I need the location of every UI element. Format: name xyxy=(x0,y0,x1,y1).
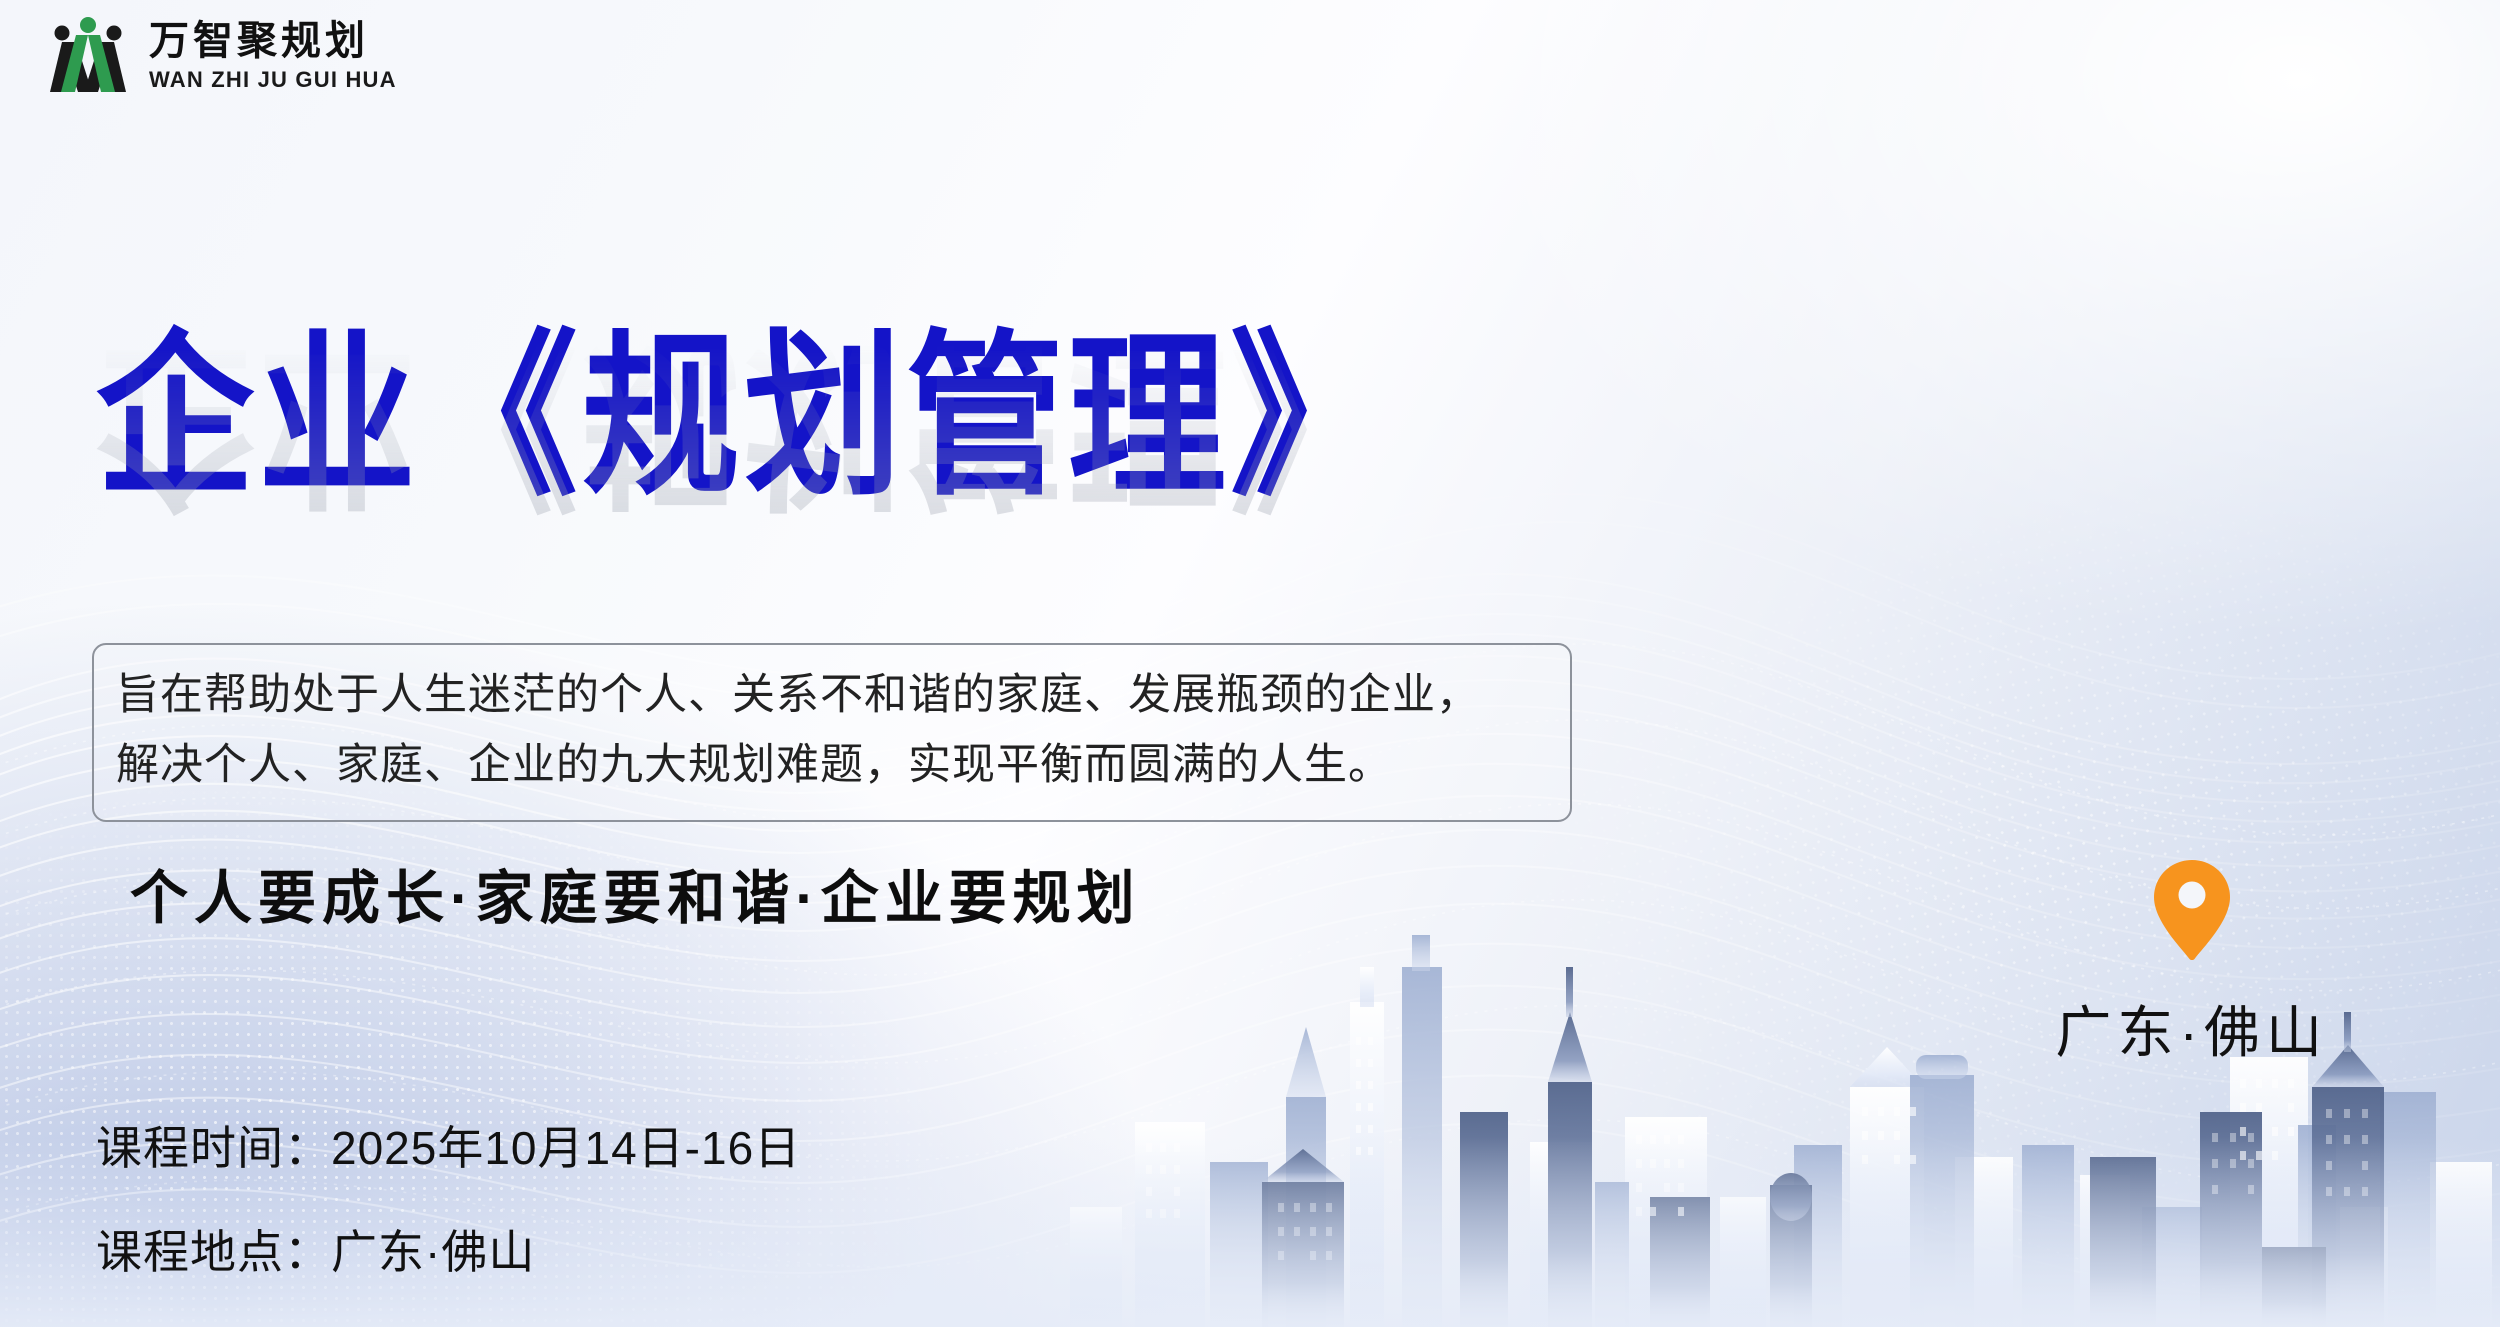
map-pin-icon xyxy=(2152,858,2232,962)
brand-name-en: WAN ZHI JU GUI HUA xyxy=(149,69,397,91)
headline-area: 企业《规划管理》 企业《规划管理》 xyxy=(96,322,1616,622)
tagline: 个人要成长·家庭要和谐·企业要规划 xyxy=(130,851,1141,935)
brand-logo: 万智聚规划 WAN ZHI JU GUI HUA xyxy=(45,16,397,96)
course-place: 课程地点：广东·佛山 xyxy=(96,1216,801,1282)
page-title-reflection: 企业《规划管理》 xyxy=(96,327,1392,518)
description-line-2: 解决个人、家庭、企业的九大规划难题，实现平衡而圆满的人生。 xyxy=(116,731,1548,801)
course-time: 课程时间：2025年10月14日-16日 xyxy=(96,1112,801,1178)
course-info: 课程时间：2025年10月14日-16日 课程地点：广东·佛山 xyxy=(96,1112,801,1282)
location-label: 广东·佛山 xyxy=(2055,988,2328,1069)
brand-name-cn: 万智聚规划 xyxy=(149,21,397,61)
description-line-1: 旨在帮助处于人生迷茫的个人、关系不和谐的家庭、发展瓶颈的企业， xyxy=(116,661,1548,731)
three-people-logo-icon xyxy=(45,16,131,96)
location-marker: 广东·佛山 xyxy=(2055,858,2328,1069)
promo-banner: 万智聚规划 WAN ZHI JU GUI HUA 企业《规划管理》 企业《规划管… xyxy=(0,0,2500,1327)
description-box: 旨在帮助处于人生迷茫的个人、关系不和谐的家庭、发展瓶颈的企业， 解决个人、家庭、… xyxy=(92,643,1572,822)
